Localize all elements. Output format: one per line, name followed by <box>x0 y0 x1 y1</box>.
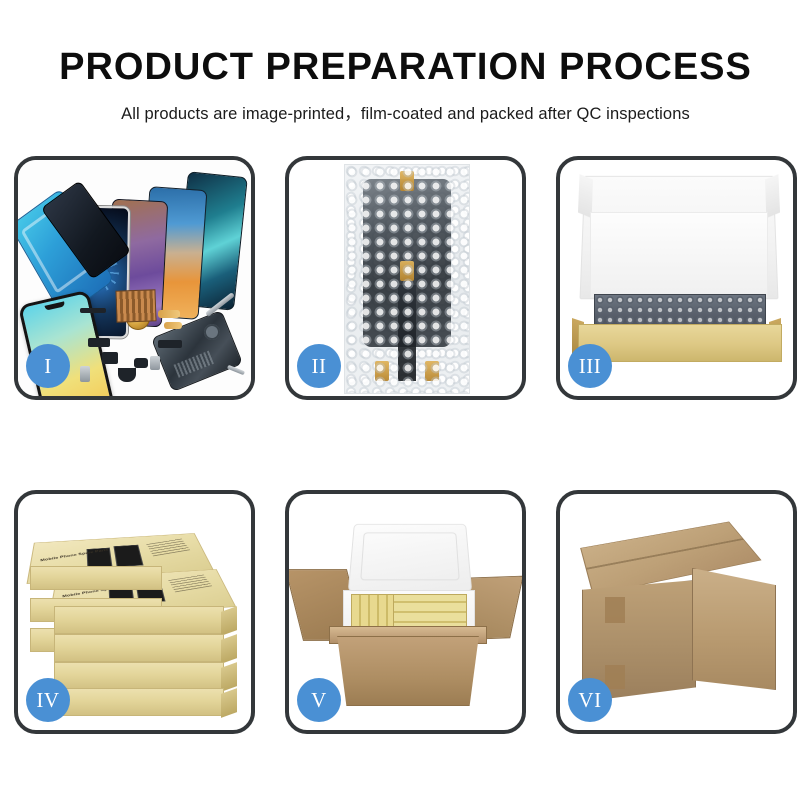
box-spec-lines-rear <box>146 538 190 556</box>
carton-front-face <box>331 636 485 706</box>
carton-tape-lower <box>605 665 625 689</box>
part-flex-cable-2 <box>164 322 182 329</box>
step-2-badge: II <box>297 344 341 388</box>
part-flex-cable-1 <box>158 310 180 318</box>
box-spec-lines-front <box>168 574 212 592</box>
part-connector-1 <box>88 338 110 347</box>
lcd-connector-bottom-right <box>425 361 439 381</box>
box-side-face-2 <box>221 634 237 664</box>
page-subtitle: All products are image-printed，film-coat… <box>0 86 811 124</box>
stacked-box-front-1 <box>54 606 224 634</box>
lcd-connector-top <box>400 171 414 191</box>
box-window-right-rear <box>113 545 143 567</box>
stacked-box-rear-1 <box>30 566 162 590</box>
step-1-badge: I <box>26 344 70 388</box>
step-panel-1[interactable]: I <box>14 156 255 400</box>
foam-cooler-lid <box>348 524 472 592</box>
part-button <box>134 358 148 368</box>
part-camera-module <box>118 368 136 382</box>
part-connector-3 <box>158 340 182 348</box>
part-sim-tray <box>80 366 90 382</box>
page-header: PRODUCT PREPARATION PROCESS All products… <box>0 0 811 124</box>
step-3-badge: III <box>568 344 612 388</box>
step-panel-6[interactable]: VI <box>556 490 797 734</box>
lcd-flex-cable <box>398 285 416 381</box>
stacked-box-front-3 <box>54 662 224 690</box>
stacked-box-front-4 <box>54 688 224 716</box>
step-6-badge: VI <box>568 678 612 722</box>
stacked-box-front-2 <box>54 634 224 662</box>
lcd-connector-bottom-left <box>375 361 389 381</box>
white-foam-sheet <box>590 212 768 298</box>
box-stack: Mobile Phone Spare Parts Mobile Phone Sp… <box>28 510 243 710</box>
shipping-carton <box>576 516 776 706</box>
process-steps-grid: I II III <box>14 156 797 736</box>
box-side-face-4 <box>221 688 237 718</box>
carton-top-seam <box>587 538 744 569</box>
part-speaker-mesh <box>80 308 106 313</box>
bubble-wrap-bag <box>344 164 470 394</box>
page-title: PRODUCT PREPARATION PROCESS <box>0 0 811 86</box>
carton-tape-upper <box>605 597 625 623</box>
bubble-wrap-layer <box>594 294 766 328</box>
step-4-badge: IV <box>26 678 70 722</box>
step-panel-5[interactable]: V <box>285 490 526 734</box>
step-panel-4[interactable]: Mobile Phone Spare Parts Mobile Phone Sp… <box>14 490 255 734</box>
step-5-badge: V <box>297 678 341 722</box>
lcd-connector-mid <box>400 261 414 281</box>
step-panel-2[interactable]: II <box>285 156 526 400</box>
chip-array <box>115 289 156 322</box>
carton-side-panel <box>692 568 776 690</box>
part-connector-2 <box>102 352 118 364</box>
step-panel-3[interactable]: III <box>556 156 797 400</box>
part-bracket <box>150 356 160 370</box>
box-side-face-1 <box>221 606 237 636</box>
